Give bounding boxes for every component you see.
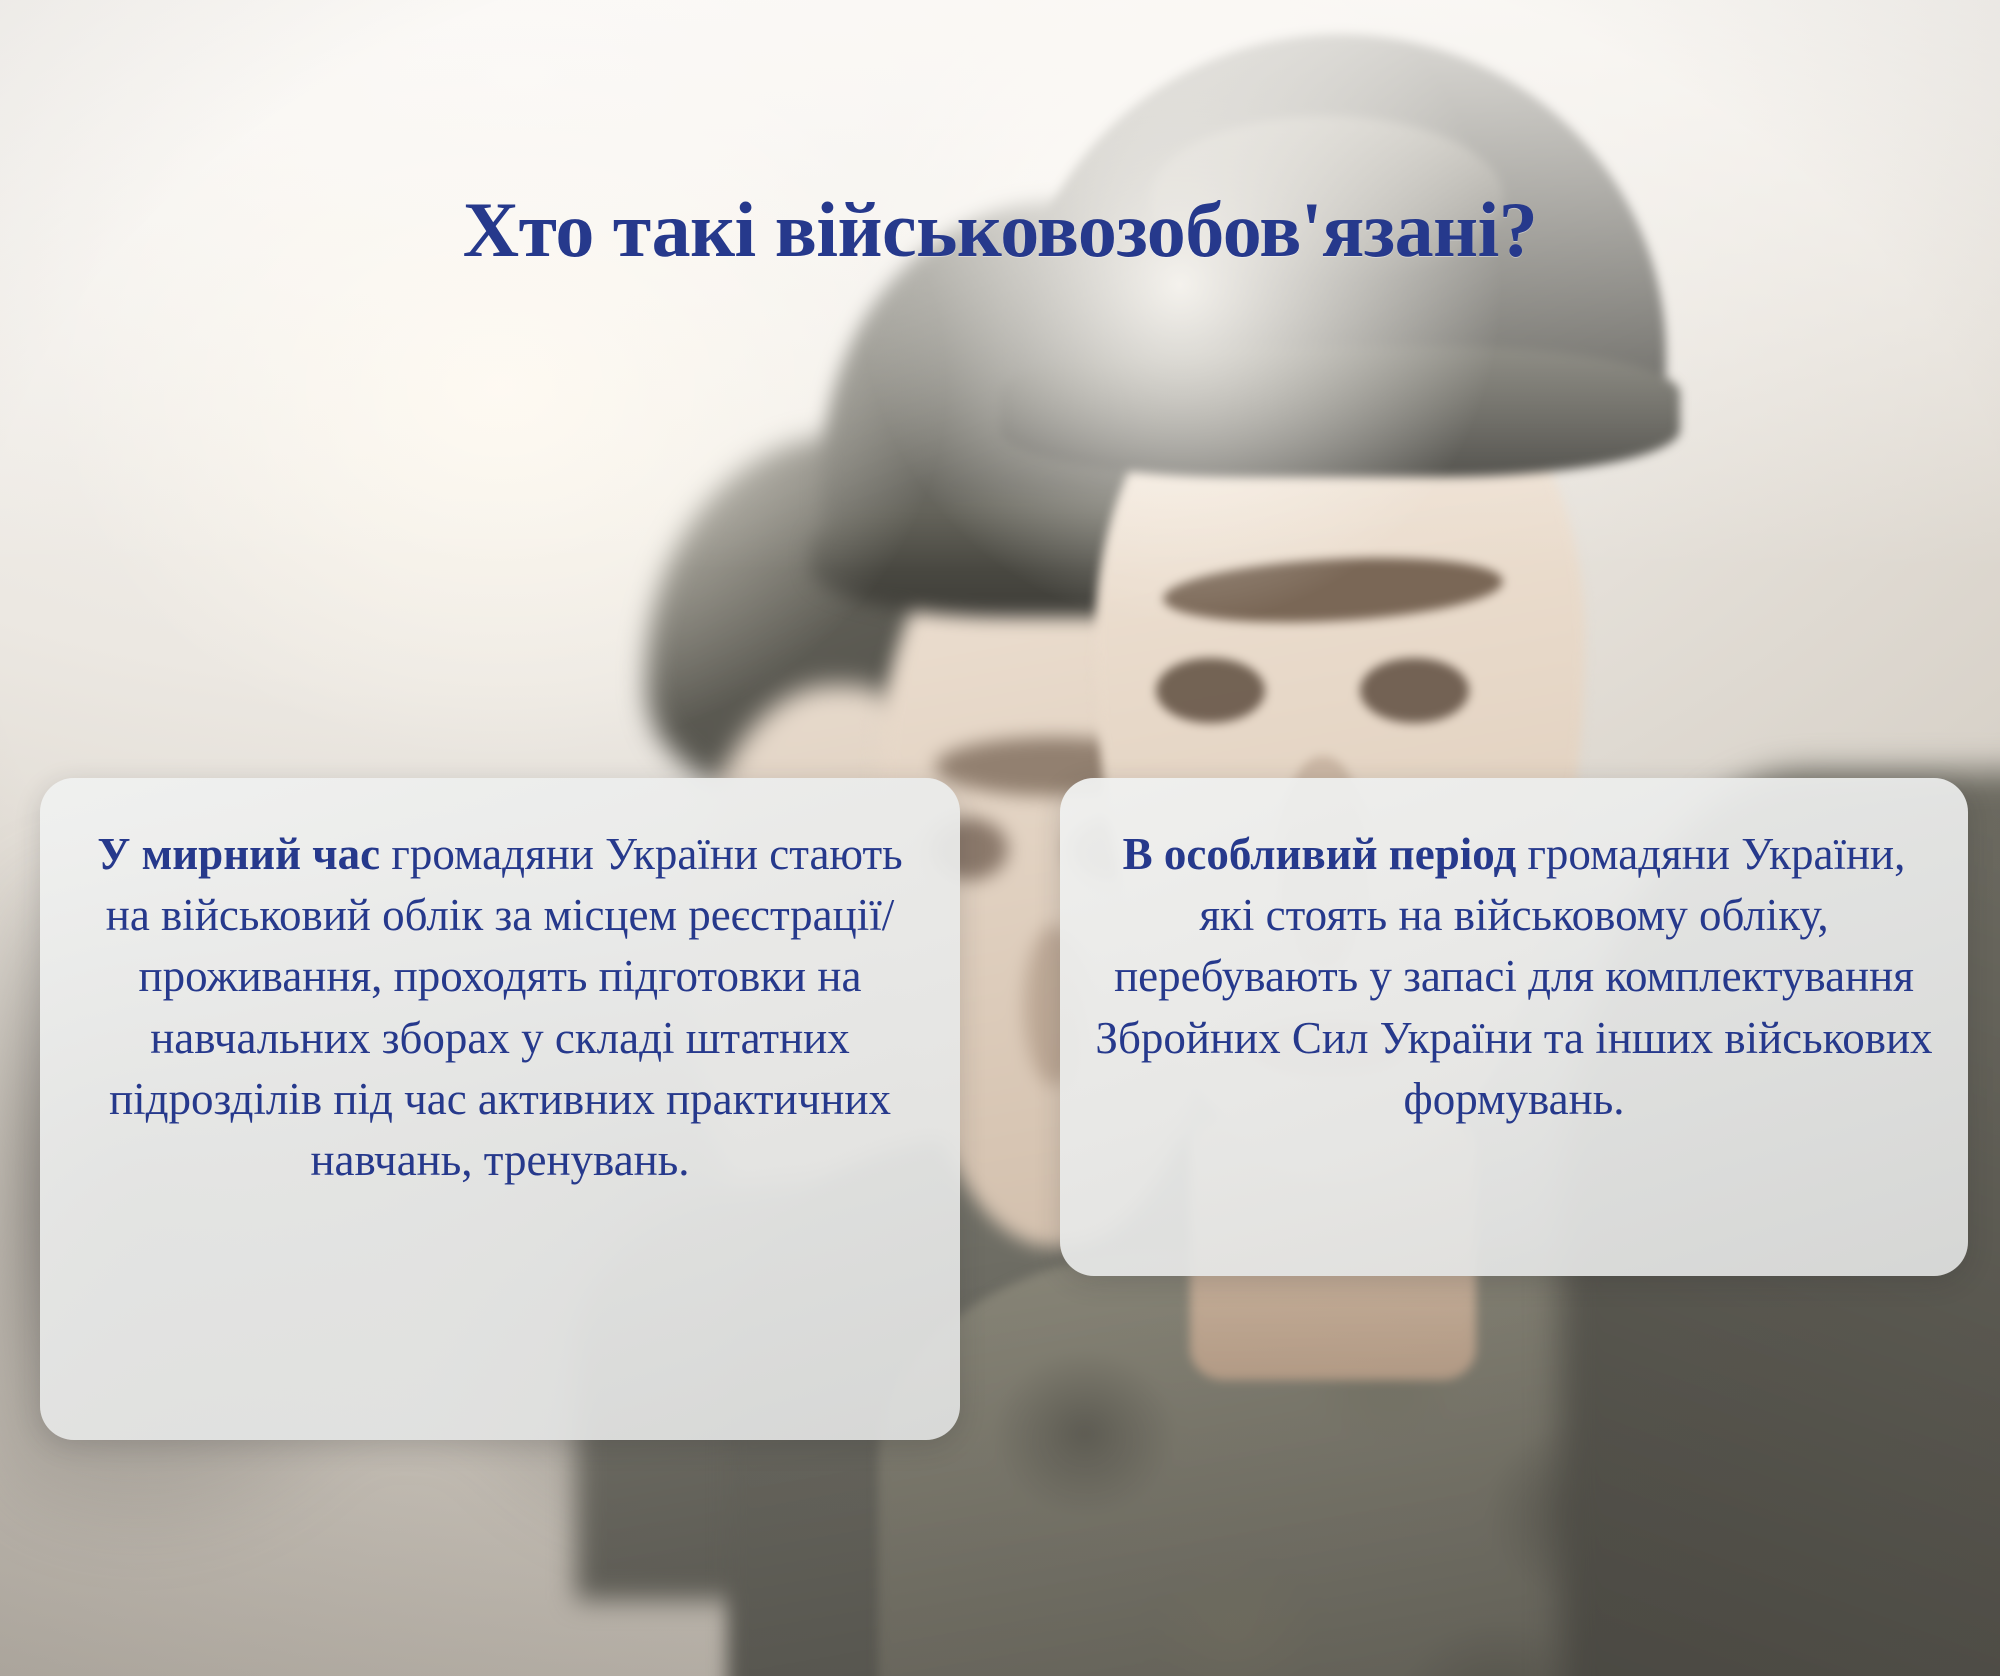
infographic-canvas: Хто такі військовозобов'язані? У мирний … [0,0,2000,1676]
card-special-period-lead: В особливий період [1123,829,1517,879]
card-peacetime-lead: У мирний час [97,829,380,879]
card-peacetime: У мирний час громадяни України стають на… [40,778,960,1440]
card-peacetime-body: громадяни України стають на військовий о… [106,829,903,1185]
card-special-period: В особливий період громадяни України, як… [1060,778,1968,1276]
page-title: Хто такі військовозобов'язані? [0,190,2000,270]
card-peacetime-text: У мирний час громадяни України стають на… [74,824,926,1191]
card-special-period-text: В особливий період громадяни України, як… [1094,824,1934,1130]
